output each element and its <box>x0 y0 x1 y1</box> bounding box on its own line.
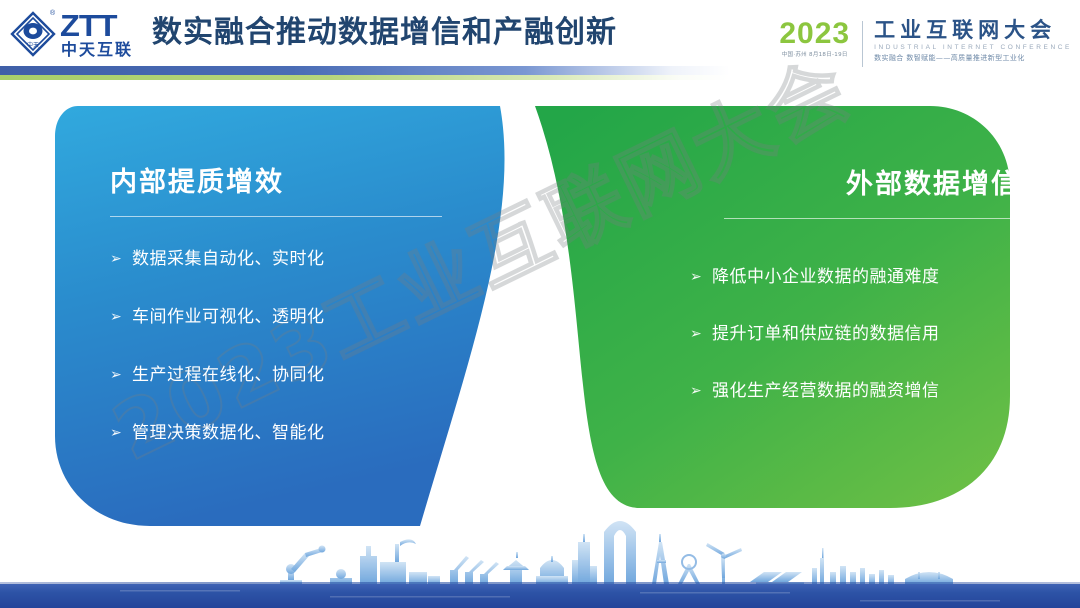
header-bar-blue <box>0 66 730 75</box>
conference-slogan: 数实融合 数智赋能——高质量推进新型工业化 <box>874 53 1072 64</box>
panel-internal-bullets: ➢ 数据采集自动化、实时化 ➢ 车间作业可视化、透明化 ➢ 生产过程在线化、协同… <box>110 247 480 445</box>
registered-mark: ® <box>50 10 55 17</box>
content-panels: 2023工业互联网大会 内部提质增效 ➢ 数据采集自动化、实时化 ➢ 车间作业可… <box>0 96 1080 526</box>
panel-internal: 内部提质增效 ➢ 数据采集自动化、实时化 ➢ 车间作业可视化、透明化 ➢ 生产过… <box>110 166 480 479</box>
slide-footer <box>0 512 1080 608</box>
panel-external: 外部数据增信 ➢ 降低中小企业数据的融通难度 ➢ 提升订单和供应链的数据信用 ➢… <box>690 168 1020 436</box>
list-item-label: 降低中小企业数据的融通难度 <box>712 265 940 289</box>
conference-date: 中国·苏州 8月18日-19日 <box>779 51 850 59</box>
list-item: ➢ 管理决策数据化、智能化 <box>110 421 480 445</box>
city-skyline-decoration-icon <box>0 512 1080 608</box>
panel-external-title: 外部数据增信 <box>690 168 1020 202</box>
panel-external-bullets: ➢ 降低中小企业数据的融通难度 ➢ 提升订单和供应链的数据信用 ➢ 强化生产经营… <box>690 265 1020 403</box>
slide-root: 中天 ® ZTT 中天互联 数实融合推动数据增信和产融创新 2023 中国·苏州… <box>0 0 1080 608</box>
conference-name-block: 工业互联网大会 INDUSTRIAL INTERNET CONFERENCE 数… <box>863 18 1072 64</box>
page-title: 数实融合推动数据增信和产融创新 <box>152 14 617 52</box>
ztt-diamond-emblem-icon: 中天 <box>10 11 56 57</box>
slide-header: 中天 ® ZTT 中天互联 数实融合推动数据增信和产融创新 2023 中国·苏州… <box>0 0 1080 88</box>
arrow-bullet-icon: ➢ <box>690 265 712 289</box>
list-item: ➢ 降低中小企业数据的融通难度 <box>690 265 1020 289</box>
list-item-label: 强化生产经营数据的融资增信 <box>712 379 940 403</box>
list-item: ➢ 生产过程在线化、协同化 <box>110 363 480 387</box>
arrow-bullet-icon: ➢ <box>110 305 132 329</box>
list-item-label: 车间作业可视化、透明化 <box>132 305 325 329</box>
arrow-bullet-icon: ➢ <box>690 379 712 403</box>
conference-name-cn: 工业互联网大会 <box>874 18 1072 43</box>
arrow-bullet-icon: ➢ <box>110 363 132 387</box>
header-bar-green <box>0 75 730 80</box>
svg-text:中天: 中天 <box>27 41 39 49</box>
ztt-chinese-name: 中天互联 <box>61 41 133 58</box>
conference-logo: 2023 中国·苏州 8月18日-19日 工业互联网大会 INDUSTRIAL … <box>779 18 1072 76</box>
list-item: ➢ 数据采集自动化、实时化 <box>110 247 480 271</box>
list-item-label: 生产过程在线化、协同化 <box>132 363 325 387</box>
panel-internal-rule <box>110 216 442 217</box>
list-item-label: 数据采集自动化、实时化 <box>132 247 325 271</box>
ztt-logo: 中天 ® ZTT 中天互联 <box>10 9 146 61</box>
arrow-bullet-icon: ➢ <box>110 421 132 445</box>
conference-year-block: 2023 中国·苏州 8月18日-19日 <box>779 18 862 59</box>
list-item-label: 提升订单和供应链的数据信用 <box>712 322 940 346</box>
panel-internal-title: 内部提质增效 <box>110 166 480 200</box>
list-item-label: 管理决策数据化、智能化 <box>132 421 325 445</box>
list-item: ➢ 车间作业可视化、透明化 <box>110 305 480 329</box>
list-item: ➢ 提升订单和供应链的数据信用 <box>690 322 1020 346</box>
conference-year: 2023 <box>779 18 850 50</box>
list-item: ➢ 强化生产经营数据的融资增信 <box>690 379 1020 403</box>
panel-external-rule <box>724 218 1020 219</box>
conference-name-en: INDUSTRIAL INTERNET CONFERENCE <box>874 43 1072 53</box>
arrow-bullet-icon: ➢ <box>110 247 132 271</box>
arrow-bullet-icon: ➢ <box>690 322 712 346</box>
ztt-wordmark: ZTT <box>60 10 117 41</box>
